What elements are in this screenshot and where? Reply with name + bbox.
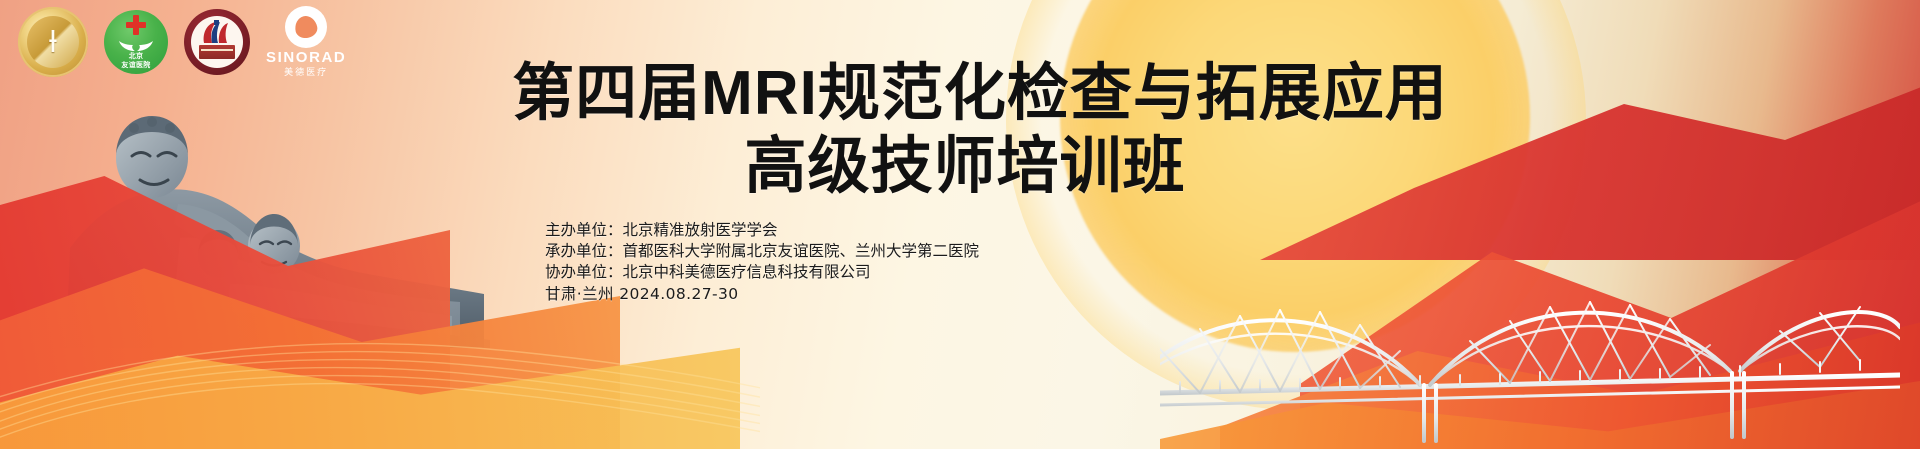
doves-icon [113, 36, 159, 52]
conference-banner: ⟊ 北京 友谊医院 [0, 0, 1920, 449]
hospital-logo-line1: 北京 [129, 53, 144, 61]
sponsor-logo-row: ⟊ 北京 友谊医院 [18, 6, 346, 77]
organizer-value-coorganizer: 北京中科美德医疗信息科技有限公司 [623, 263, 871, 281]
red-cross-icon [126, 15, 146, 35]
organizer-label-host: 主办单位： [545, 221, 623, 239]
gold-emblem-logo[interactable]: ⟊ [18, 7, 88, 77]
title-block: 第四届MRI规范化检查与拓展应用 高级技师培训班 [0, 58, 1920, 204]
maroon-logo-inner [191, 16, 243, 68]
banner-title-line-2: 高级技师培训班 [10, 130, 1920, 204]
maroon-university-hospital-logo[interactable] [184, 9, 250, 75]
sinorad-eye-icon [285, 6, 327, 48]
sinorad-lens-icon [293, 14, 319, 40]
ribbon-swoosh-icon [200, 20, 234, 44]
organizer-line-host: 主办单位：北京精准放射医学学会 [545, 220, 979, 241]
organizer-line-coorganizer: 协办单位：北京中科美德医疗信息科技有限公司 [545, 262, 979, 283]
hospital-logo-line2: 友谊医院 [121, 62, 150, 70]
organizer-value-undertaker: 首都医科大学附属北京友谊医院、兰州大学第二医院 [623, 242, 980, 260]
sinorad-logo[interactable]: SINORAD 美德医疗 [266, 6, 346, 77]
organizer-label-coorganizer: 协办单位： [545, 263, 623, 281]
sinorad-brand-cn-text: 美德医疗 [284, 67, 328, 77]
organizer-line-undertaker: 承办单位：首都医科大学附属北京友谊医院、兰州大学第二医院 [545, 241, 979, 262]
sinorad-brand-text: SINORAD [266, 50, 346, 65]
beijing-friendship-hospital-logo[interactable]: 北京 友谊医院 [104, 10, 168, 74]
gold-emblem-inner: ⟊ [27, 16, 79, 68]
organizer-value-host: 北京精准放射医学学会 [623, 221, 778, 239]
event-location-date: 甘肃·兰州 2024.08.27-30 [545, 284, 979, 305]
zhongshan-iron-bridge-illustration [1160, 189, 1900, 449]
gate-building-icon [199, 45, 235, 59]
organizer-label-undertaker: 承办单位： [545, 242, 623, 260]
gold-emblem-glyph-icon: ⟊ [49, 27, 57, 57]
organizer-info-block: 主办单位：北京精准放射医学学会 承办单位：首都医科大学附属北京友谊医院、兰州大学… [545, 220, 979, 305]
